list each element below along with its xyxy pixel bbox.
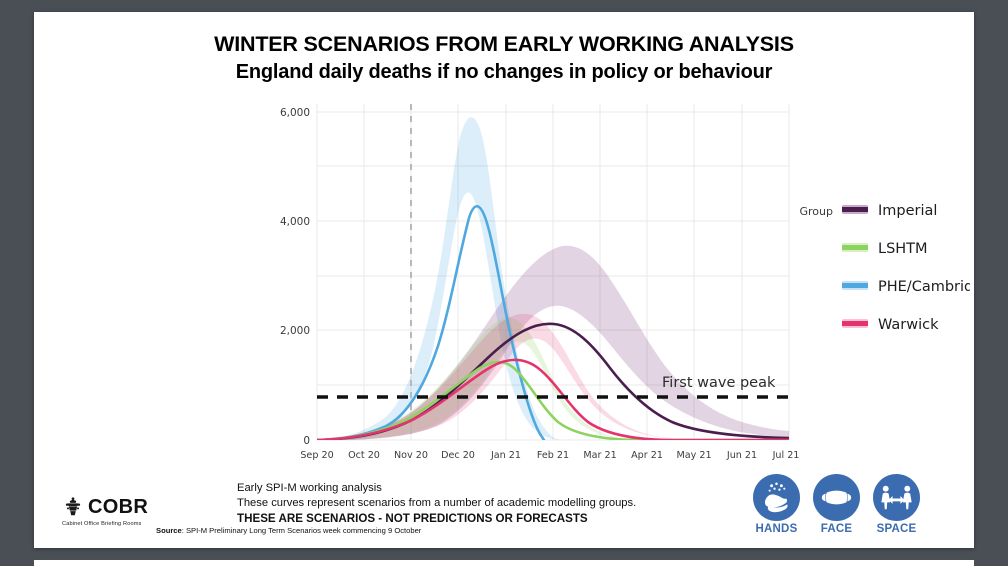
y-tick-4000: 4,000 [280,216,310,228]
hfs-item-face: FACE [811,474,862,535]
x-tick-mar21: Mar 21 [583,450,616,461]
legend-label-phe-cambridge: PHE/Cambridge [878,279,970,295]
x-tick-feb21: Feb 21 [537,450,569,461]
legend-item-imperial[interactable]: Imperial [842,203,937,219]
hfs-caption-hands: HANDS [751,523,802,535]
legend-label-warwick: Warwick [878,317,939,333]
handwash-icon [753,474,800,521]
hands-face-space-group: HANDS FACE [751,474,922,535]
x-tick-jan21: Jan 21 [490,450,521,461]
note-line-1: Early SPI-M working analysis [237,481,797,496]
hfs-item-hands: HANDS [751,474,802,535]
cobr-logo: COBR Cabinet Office Briefing Rooms [62,496,212,527]
chart-legend: Group Imperial LSHTM PHE/Cam [800,203,971,333]
cobr-wordmark: COBR [88,497,148,517]
x-tick-may21: May 21 [676,450,711,461]
facemask-icon [813,474,860,521]
slide-winter-scenarios: WINTER SCENARIOS FROM EARLY WORKING ANAL… [34,12,974,548]
source-label: Source [156,526,182,535]
legend-swatch-phe-cambridge [842,283,868,288]
x-tick-oct20: Oct 20 [348,450,380,461]
legend-item-phe-cambridge[interactable]: PHE/Cambridge [842,279,970,295]
slide-footer: COBR Cabinet Office Briefing Rooms Early… [34,478,974,548]
page-subtitle: England daily deaths if no changes in po… [34,60,974,84]
legend-item-lshtm[interactable]: LSHTM [842,241,928,257]
y-tick-6000: 6,000 [280,107,310,119]
legend-swatch-imperial [842,207,868,212]
legend-label-imperial: Imperial [878,203,937,219]
distance-icon [873,474,920,521]
distance-badge [873,474,920,521]
note-line-2: These curves represent scenarios from a … [237,496,797,511]
y-axis-ticks: 6,000 4,000 2,000 0 [280,107,310,447]
legend-item-warwick[interactable]: Warwick [842,317,939,333]
x-tick-apr21: Apr 21 [631,450,663,461]
first-wave-peak-label: First wave peak [662,375,776,391]
title-block: WINTER SCENARIOS FROM EARLY WORKING ANAL… [34,32,974,84]
x-tick-jun21: Jun 21 [726,450,757,461]
x-tick-dec20: Dec 20 [441,450,475,461]
note-line-3-disclaimer: THESE ARE SCENARIOS - NOT PREDICTIONS OR… [237,511,797,526]
scenario-line-chart: 6,000 4,000 2,000 0 [230,90,970,480]
x-axis-ticks: Sep 20 Oct 20 Nov 20 Dec 20 Jan 21 Feb 2… [300,450,799,461]
hfs-item-space: SPACE [871,474,922,535]
royal-crest-icon [62,496,84,518]
page-title: WINTER SCENARIOS FROM EARLY WORKING ANAL… [34,32,974,57]
legend-swatch-warwick [842,321,868,326]
footer-notes: Early SPI-M working analysis These curve… [237,481,797,526]
hfs-caption-space: SPACE [871,523,922,535]
legend-label-lshtm: LSHTM [878,241,928,257]
facemask-badge [813,474,860,521]
x-tick-jul21: Jul 21 [772,450,800,461]
x-tick-nov20: Nov 20 [394,450,428,461]
legend-title: Group [800,205,834,218]
source-line: Source: SPI-M Preliminary Long Term Scen… [156,526,421,535]
chart-area: 6,000 4,000 2,000 0 [230,90,970,480]
source-text: : SPI-M Preliminary Long Term Scenarios … [182,526,422,535]
screenshot-viewport: WINTER SCENARIOS FROM EARLY WORKING ANAL… [0,0,1008,566]
legend-swatch-lshtm [842,245,868,250]
x-tick-sep20: Sep 20 [300,450,333,461]
y-tick-2000: 2,000 [280,325,310,337]
hfs-caption-face: FACE [811,523,862,535]
y-tick-0: 0 [303,435,310,447]
next-slide-edge[interactable] [34,560,974,566]
handwash-badge [753,474,800,521]
